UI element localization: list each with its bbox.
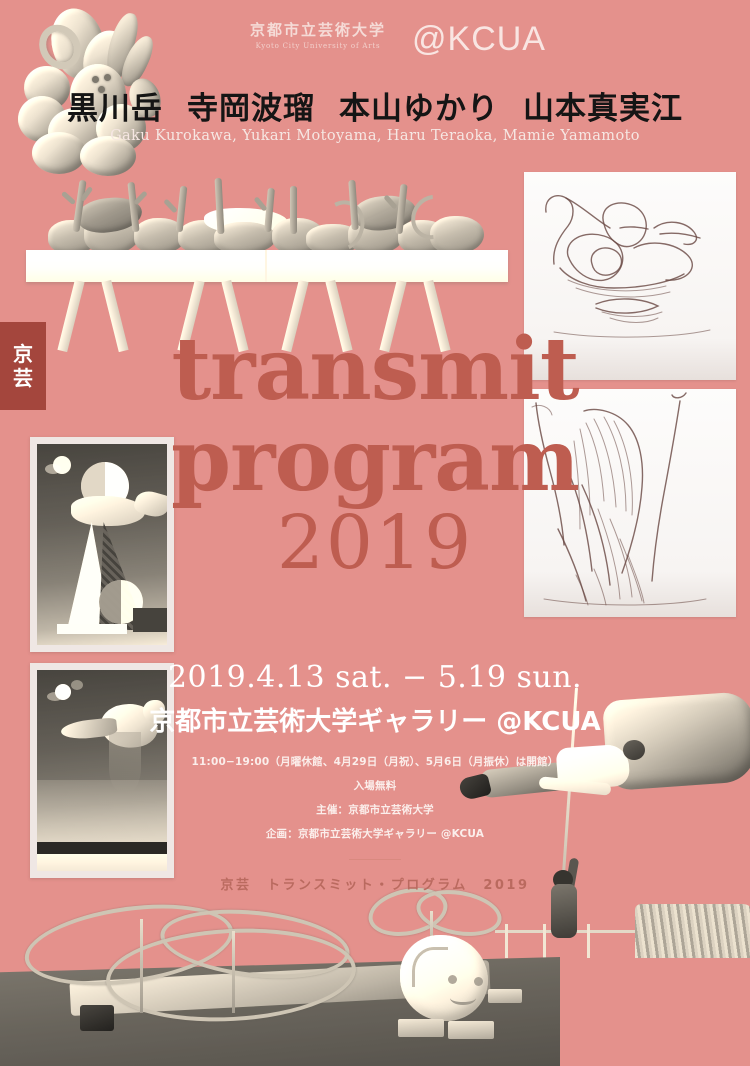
opening-hours: 11:00−19:00（月曜休館、4月29日（月祝）、5月6日（月振休）は開館） — [0, 754, 750, 769]
kcua-logo: @KCUA — [412, 20, 546, 59]
artist-names-jp: 黒川岳寺岡波瑠本山ゆかり山本真実江 — [0, 83, 750, 128]
bottom-installation-photo — [0, 885, 750, 1066]
artist-name-4: 山本真実江 — [523, 91, 683, 127]
divider-rule — [349, 859, 401, 860]
exhibition-info: 2019.4.13 sat. − 5.19 sun. 京都市立芸術大学ギャラリー… — [0, 660, 750, 893]
artist-name-2: 寺岡波瑠 — [187, 91, 315, 127]
exhibition-poster: 京 芸 — [0, 0, 750, 1066]
venue-name: 京都市立芸術大学ギャラリー @KCUA — [0, 701, 750, 738]
table-installation-image — [18, 172, 518, 352]
artist-name-1: 黒川岳 — [67, 91, 163, 127]
date-range: 2019.4.13 sat. − 5.19 sun. — [0, 660, 750, 695]
drawing-sketch-figure — [524, 389, 736, 617]
artist-names-romaji: Gaku Kurokawa, Yukari Motoyama, Haru Ter… — [0, 128, 750, 144]
university-name-jp: 京都市立芸術大学 — [238, 22, 398, 39]
university-logo: 京都市立芸術大学 Kyoto City University of Arts — [238, 22, 398, 50]
drawing-panel-bottom — [524, 389, 736, 617]
planner: 企画：京都市立芸術大学ギャラリー @KCUA — [0, 826, 750, 841]
badge-char-kyo: 京 — [13, 344, 33, 364]
kyogei-badge: 京 芸 — [0, 322, 46, 410]
artwork-panel-upper — [30, 437, 174, 652]
admission: 入場無料 — [0, 778, 750, 793]
drawing-panel-top — [524, 172, 736, 380]
organizer: 主催：京都市立芸術大学 — [0, 802, 750, 817]
university-name-en: Kyoto City University of Arts — [238, 42, 398, 50]
artist-name-3: 本山ゆかり — [339, 91, 499, 127]
table-top — [26, 250, 508, 282]
series-name: 京芸 トランスミット・プログラム 2019 — [0, 874, 750, 893]
drawing-sketch-fruit — [524, 172, 736, 380]
badge-char-gei: 芸 — [13, 368, 33, 388]
